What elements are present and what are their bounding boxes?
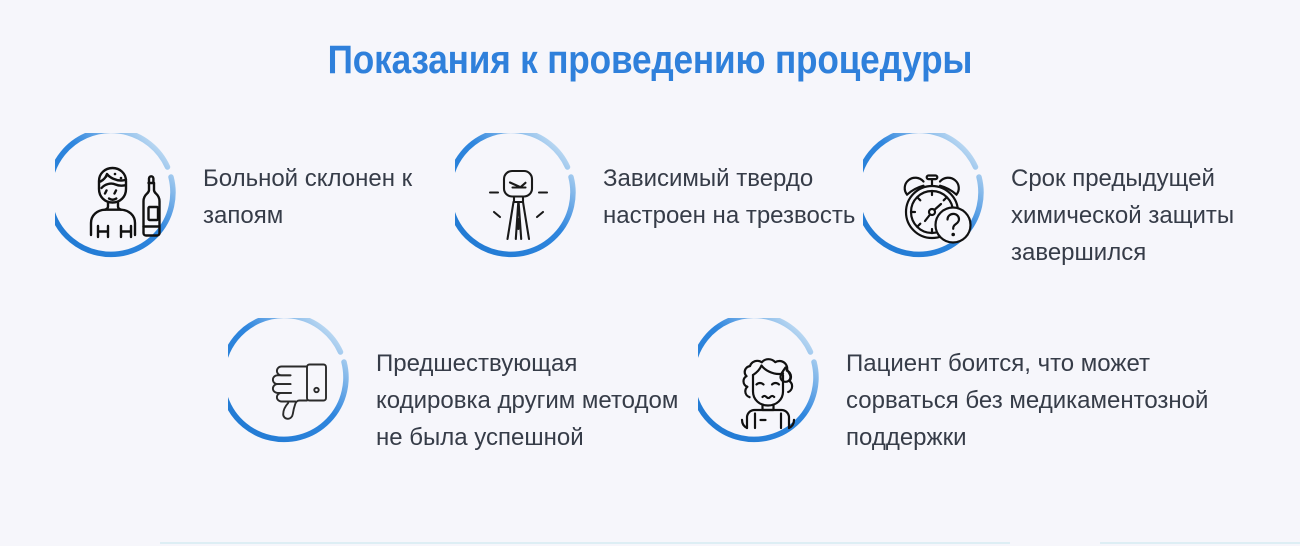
list-item: Зависимый твердо настроен на трезвость bbox=[455, 133, 863, 273]
badge-binge-prone bbox=[55, 133, 195, 273]
list-item-label: Пациент боится, что может сорваться без … bbox=[846, 318, 1216, 456]
list-item: Срок предыдущей химической защиты заверш… bbox=[863, 133, 1263, 273]
badge-fear-of-relapse bbox=[698, 318, 838, 458]
list-item: Предшествующая кодировка другим методом … bbox=[228, 318, 698, 458]
person-with-bottle-icon bbox=[79, 157, 171, 249]
page-title: Показания к проведению процедуры bbox=[78, 38, 1222, 82]
thumbs-down-icon bbox=[252, 342, 344, 434]
badge-previous-coding-failed bbox=[228, 318, 368, 458]
determined-person-icon bbox=[479, 157, 571, 249]
alarm-clock-question-icon bbox=[887, 157, 979, 249]
infographic-root: Показания к проведению процедуры bbox=[0, 0, 1300, 546]
badge-previous-protection-expired bbox=[863, 133, 1003, 273]
items-row-bottom: Предшествующая кодировка другим методом … bbox=[0, 318, 1300, 458]
list-item-label: Предшествующая кодировка другим методом … bbox=[376, 318, 698, 456]
list-item: Пациент боится, что может сорваться без … bbox=[698, 318, 1218, 458]
worried-person-icon bbox=[722, 342, 814, 434]
list-item-label: Срок предыдущей химической защиты заверш… bbox=[1011, 133, 1263, 271]
items-row-top: Больной склонен к запоям bbox=[0, 133, 1300, 273]
footer-rule-left bbox=[160, 542, 1010, 544]
footer-rule-right bbox=[1100, 542, 1300, 544]
list-item-label: Зависимый твердо настроен на трезвость bbox=[603, 133, 863, 234]
badge-firm-sobriety-intent bbox=[455, 133, 595, 273]
list-item: Больной склонен к запоям bbox=[55, 133, 455, 273]
list-item-label: Больной склонен к запоям bbox=[203, 133, 455, 234]
